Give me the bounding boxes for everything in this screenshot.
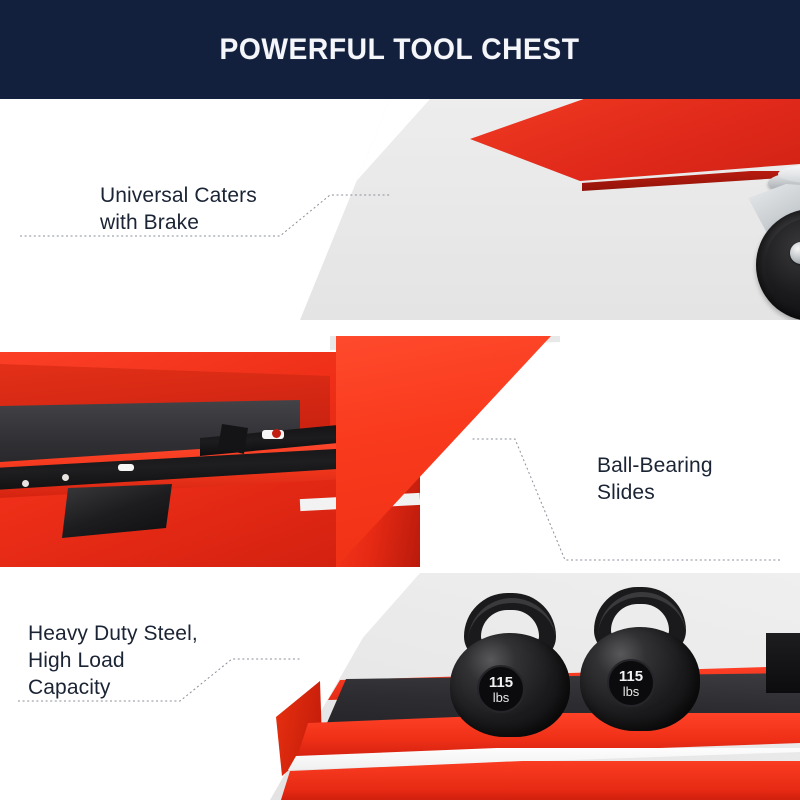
header-banner: POWERFUL TOOL CHEST <box>0 0 800 99</box>
weight-badge: 115 lbs <box>477 665 525 713</box>
photo-notch-wedge <box>300 99 490 320</box>
feature-caption-capacity: Heavy Duty Steel, High Load Capacity <box>28 620 198 701</box>
weight-value: 115 <box>619 669 643 684</box>
weight-unit: lbs <box>623 685 640 698</box>
kettlebell-left: 115 lbs <box>450 593 570 741</box>
feature-caption-casters: Universal Caters with Brake <box>100 182 257 236</box>
background-post <box>766 633 800 693</box>
kettlebell-right: 115 lbs <box>580 587 700 735</box>
weight-badge: 115 lbs <box>607 659 655 707</box>
panel-divider-1 <box>0 320 800 336</box>
kettlebell-body: 115 lbs <box>450 633 570 737</box>
rail-red-dot-icon <box>272 429 281 438</box>
rail-screw-hole-icon <box>62 474 69 481</box>
weight-value: 115 <box>489 675 513 690</box>
rail-slot-icon <box>118 464 134 471</box>
kettlebell-photo: 115 lbs 115 lbs <box>270 573 800 800</box>
caster-wheel <box>756 209 800 320</box>
page-title: POWERFUL TOOL CHEST <box>220 33 580 67</box>
rail-screw-hole-icon <box>22 480 29 487</box>
kettlebell-body: 115 lbs <box>580 627 700 731</box>
infographic-page: POWERFUL TOOL CHEST <box>0 0 800 800</box>
caster-assembly <box>730 154 800 319</box>
weight-unit: lbs <box>493 691 510 704</box>
caster-photo <box>300 99 800 320</box>
feature-caption-slides: Ball-Bearing Slides <box>597 452 713 506</box>
